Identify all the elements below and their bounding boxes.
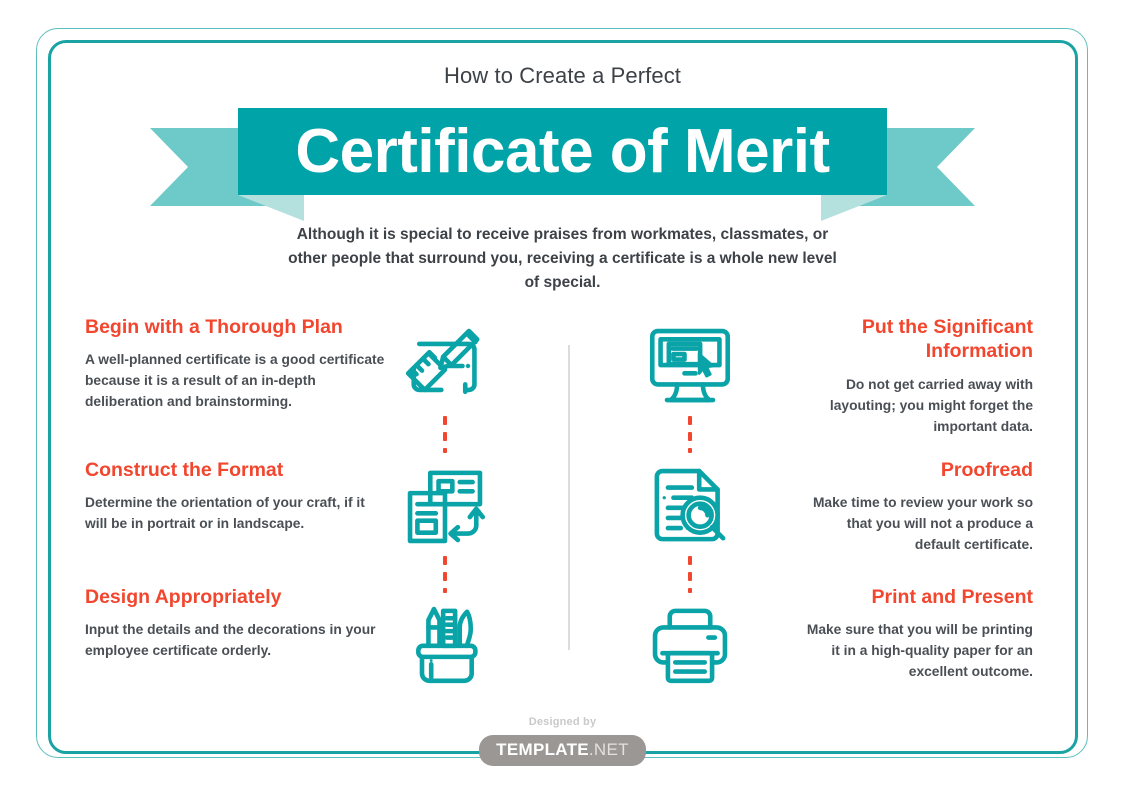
intro-paragraph: Although it is special to receive praise… (280, 223, 845, 295)
title-ribbon: Certificate of Merit (150, 108, 975, 218)
brand-suffix: .NET (589, 740, 629, 759)
step-heading: Proofread (800, 458, 1033, 482)
step-heading: Put the Significant Information (800, 315, 1033, 364)
page-title: Certificate of Merit (295, 121, 829, 183)
pencil-ruler-sketch-icon (385, 318, 505, 413)
connector-dots (630, 413, 750, 455)
layout-orientation-swap-icon (385, 458, 505, 553)
ribbon-fold-left (238, 195, 304, 221)
brand-main: TEMPLATE (496, 740, 589, 759)
pencil-cup-tools-icon (385, 596, 505, 691)
printer-icon (630, 596, 750, 691)
step-body: A well-planned certificate is a good cer… (85, 350, 385, 413)
template-net-badge[interactable]: TEMPLATE.NET (479, 735, 646, 766)
step-body: Make sure that you will be printing it i… (800, 620, 1033, 683)
step-heading: Design Appropriately (85, 585, 385, 609)
step-card-construct-the-format: Construct the Format Determine the orien… (85, 458, 385, 535)
ribbon-band: Certificate of Merit (238, 108, 887, 195)
step-card-design-appropriately: Design Appropriately Input the details a… (85, 585, 385, 662)
step-body: Make time to review your work so that yo… (800, 493, 1033, 556)
step-body: Determine the orientation of your craft,… (85, 493, 385, 535)
designed-by-label: Designed by (0, 716, 1125, 728)
step-card-proofread: Proofread Make time to review your work … (800, 458, 1033, 556)
step-heading: Construct the Format (85, 458, 385, 482)
desktop-monitor-cursor-icon (630, 318, 750, 413)
step-body: Do not get carried away with layouting; … (800, 375, 1033, 438)
step-heading: Begin with a Thorough Plan (85, 315, 385, 339)
step-card-print-and-present: Print and Present Make sure that you wil… (800, 585, 1033, 683)
column-divider (568, 345, 570, 650)
footer-credit: Designed by (0, 716, 1125, 728)
infographic-poster: How to Create a Perfect Certificate of M… (0, 0, 1125, 793)
connector-dots (385, 413, 505, 455)
step-card-begin-with-a-thorough-plan: Begin with a Thorough Plan A well-planne… (85, 315, 385, 413)
brand-badge-row: TEMPLATE.NET (0, 735, 1125, 766)
step-body: Input the details and the decorations in… (85, 620, 385, 662)
ribbon-fold-right (821, 195, 887, 221)
step-heading: Print and Present (800, 585, 1033, 609)
document-magnifier-icon (630, 458, 750, 553)
connector-dots (385, 553, 505, 595)
step-card-put-the-significant-information: Put the Significant Information Do not g… (800, 315, 1033, 438)
connector-dots (630, 553, 750, 595)
page-kicker: How to Create a Perfect (0, 63, 1125, 89)
